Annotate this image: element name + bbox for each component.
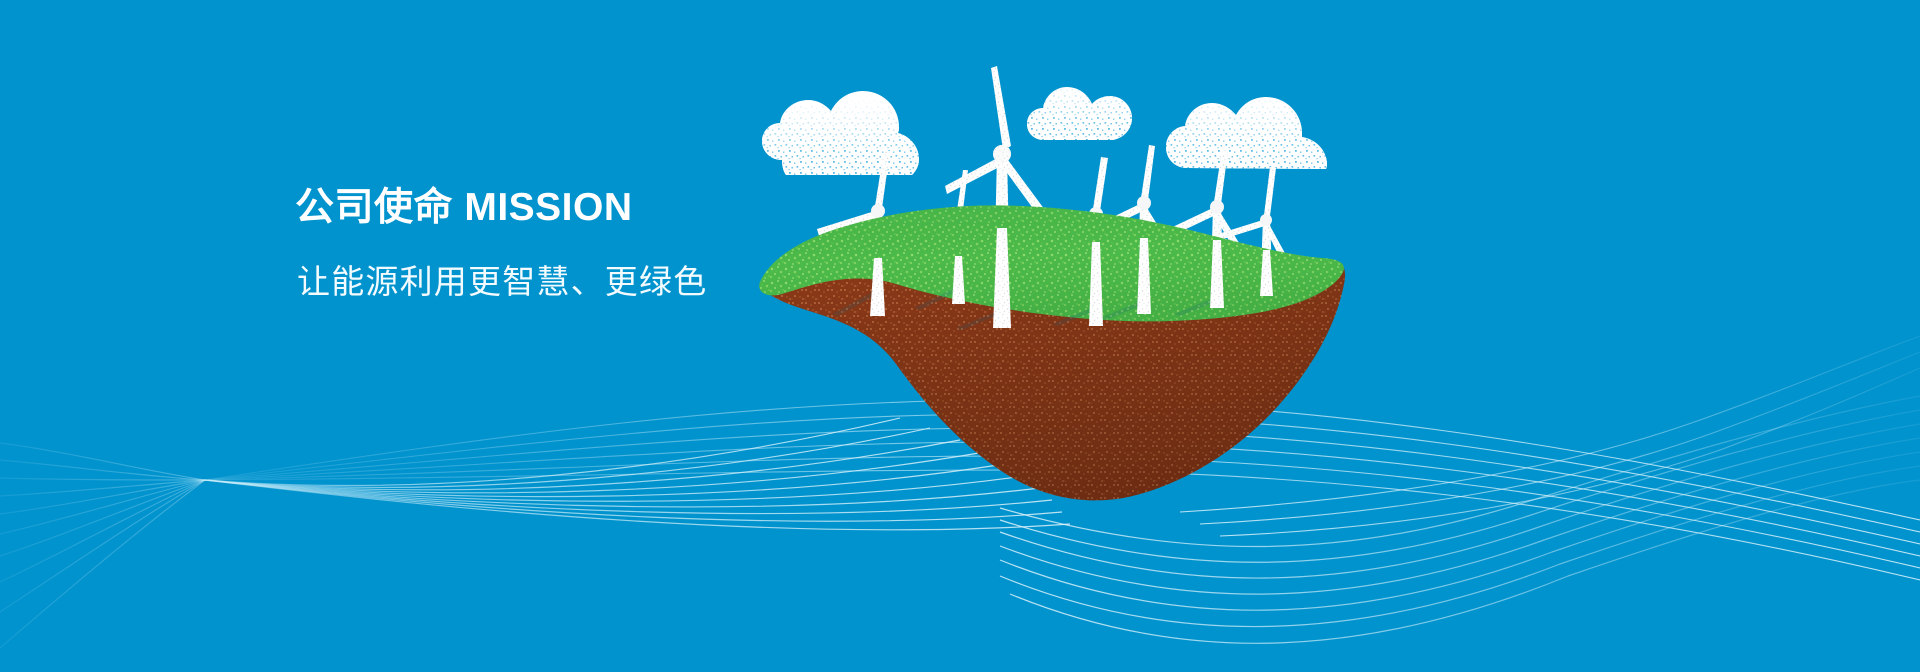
mission-banner: 公司使命 MISSION 让能源利用更智慧、更绿色 (0, 0, 1920, 672)
cloud-left (762, 91, 919, 175)
cloud-right (1166, 97, 1327, 169)
cloud-center (1027, 87, 1132, 140)
mission-text-block: 公司使命 MISSION 让能源利用更智慧、更绿色 (295, 186, 915, 301)
page-title: 公司使命 MISSION (295, 186, 915, 231)
page-subtitle: 让能源利用更智慧、更绿色 (297, 262, 915, 302)
